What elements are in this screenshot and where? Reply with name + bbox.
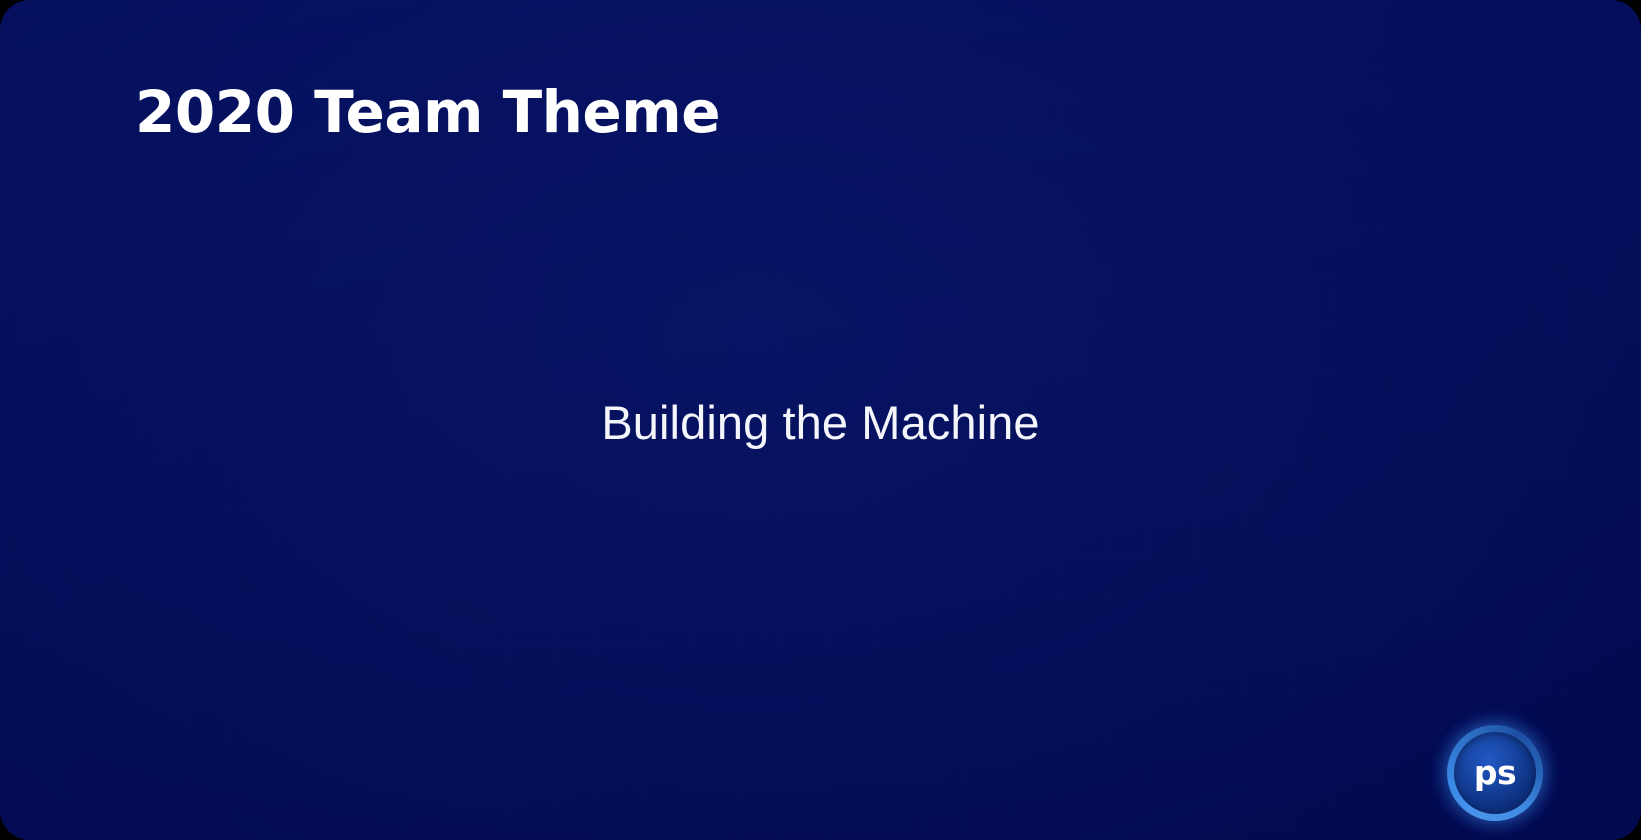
logo-wordmark: ps — [1447, 725, 1543, 821]
presentation-slide: 2020 Team Theme Building the Machine ps — [0, 0, 1641, 840]
slide-subtitle: Building the Machine — [0, 396, 1641, 450]
ps-logo-badge: ps — [1447, 725, 1543, 821]
page-title: 2020 Team Theme — [135, 82, 720, 143]
